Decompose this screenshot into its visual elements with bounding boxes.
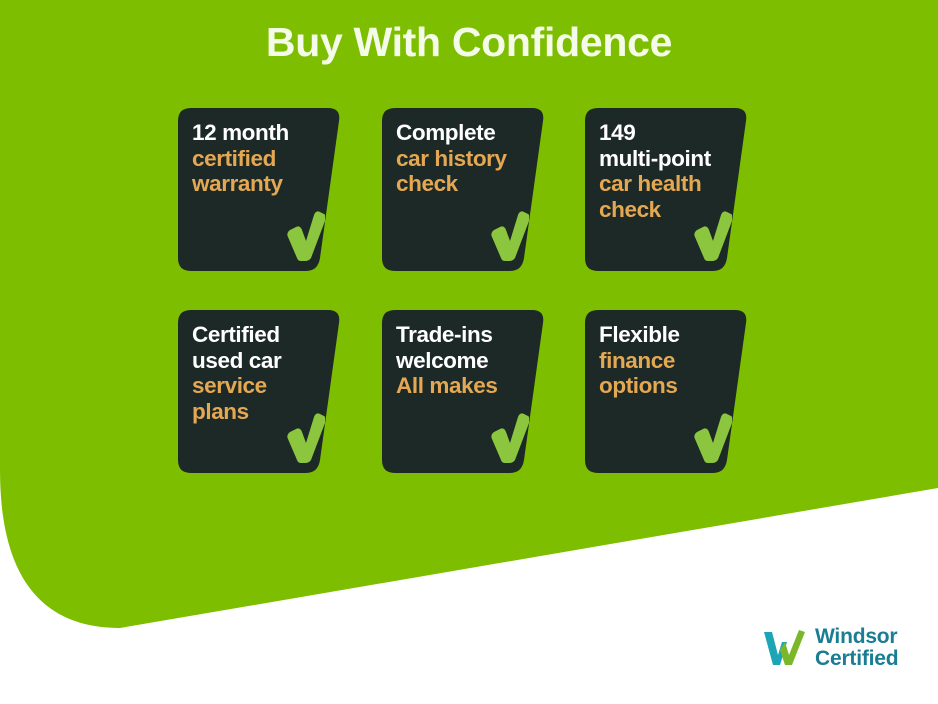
card-line: multi-point <box>599 146 741 172</box>
feature-card-grid: 12 month certified warranty Complete car… <box>178 108 758 478</box>
card-text-block: Certified used car service plans <box>192 322 334 425</box>
feature-card[interactable]: Certified used car service plans <box>178 310 353 473</box>
poster-canvas: Buy With Confidence 12 month certified w… <box>0 0 938 704</box>
page-title: Buy With Confidence <box>0 20 938 65</box>
feature-card[interactable]: Complete car history check <box>382 108 557 271</box>
card-line: Complete <box>396 120 538 146</box>
card-line: welcome <box>396 348 538 374</box>
feature-card[interactable]: Flexible finance options <box>585 310 760 473</box>
card-line: 149 <box>599 120 741 146</box>
feature-card[interactable]: 12 month certified warranty <box>178 108 353 271</box>
card-text-block: 12 month certified warranty <box>192 120 334 197</box>
check-icon <box>285 413 325 463</box>
windsor-certified-logo[interactable]: Windsor Certified <box>762 626 898 671</box>
card-text-block: 149 multi-point car health check <box>599 120 741 223</box>
windsor-w-icon <box>762 628 806 668</box>
logo-word-certified: Certified <box>815 648 898 670</box>
card-line: options <box>599 373 741 399</box>
check-icon <box>692 413 732 463</box>
check-icon <box>692 211 732 261</box>
card-line: warranty <box>192 171 334 197</box>
card-line: finance <box>599 348 741 374</box>
card-line: Trade-ins <box>396 322 538 348</box>
card-line: All makes <box>396 373 538 399</box>
logo-word-windsor: Windsor <box>815 626 898 648</box>
card-line: Flexible <box>599 322 741 348</box>
card-line: service <box>192 373 334 399</box>
card-text-block: Complete car history check <box>396 120 538 197</box>
card-line: 12 month <box>192 120 334 146</box>
card-line: certified <box>192 146 334 172</box>
card-text-block: Flexible finance options <box>599 322 741 399</box>
card-line: check <box>396 171 538 197</box>
check-icon <box>489 413 529 463</box>
card-text-block: Trade-ins welcome All makes <box>396 322 538 399</box>
card-line: Certified <box>192 322 334 348</box>
feature-card[interactable]: Trade-ins welcome All makes <box>382 310 557 473</box>
card-line: car history <box>396 146 538 172</box>
check-icon <box>489 211 529 261</box>
check-icon <box>285 211 325 261</box>
feature-card[interactable]: 149 multi-point car health check <box>585 108 760 271</box>
card-line: car health <box>599 171 741 197</box>
logo-wordmark: Windsor Certified <box>815 626 898 671</box>
card-line: used car <box>192 348 334 374</box>
